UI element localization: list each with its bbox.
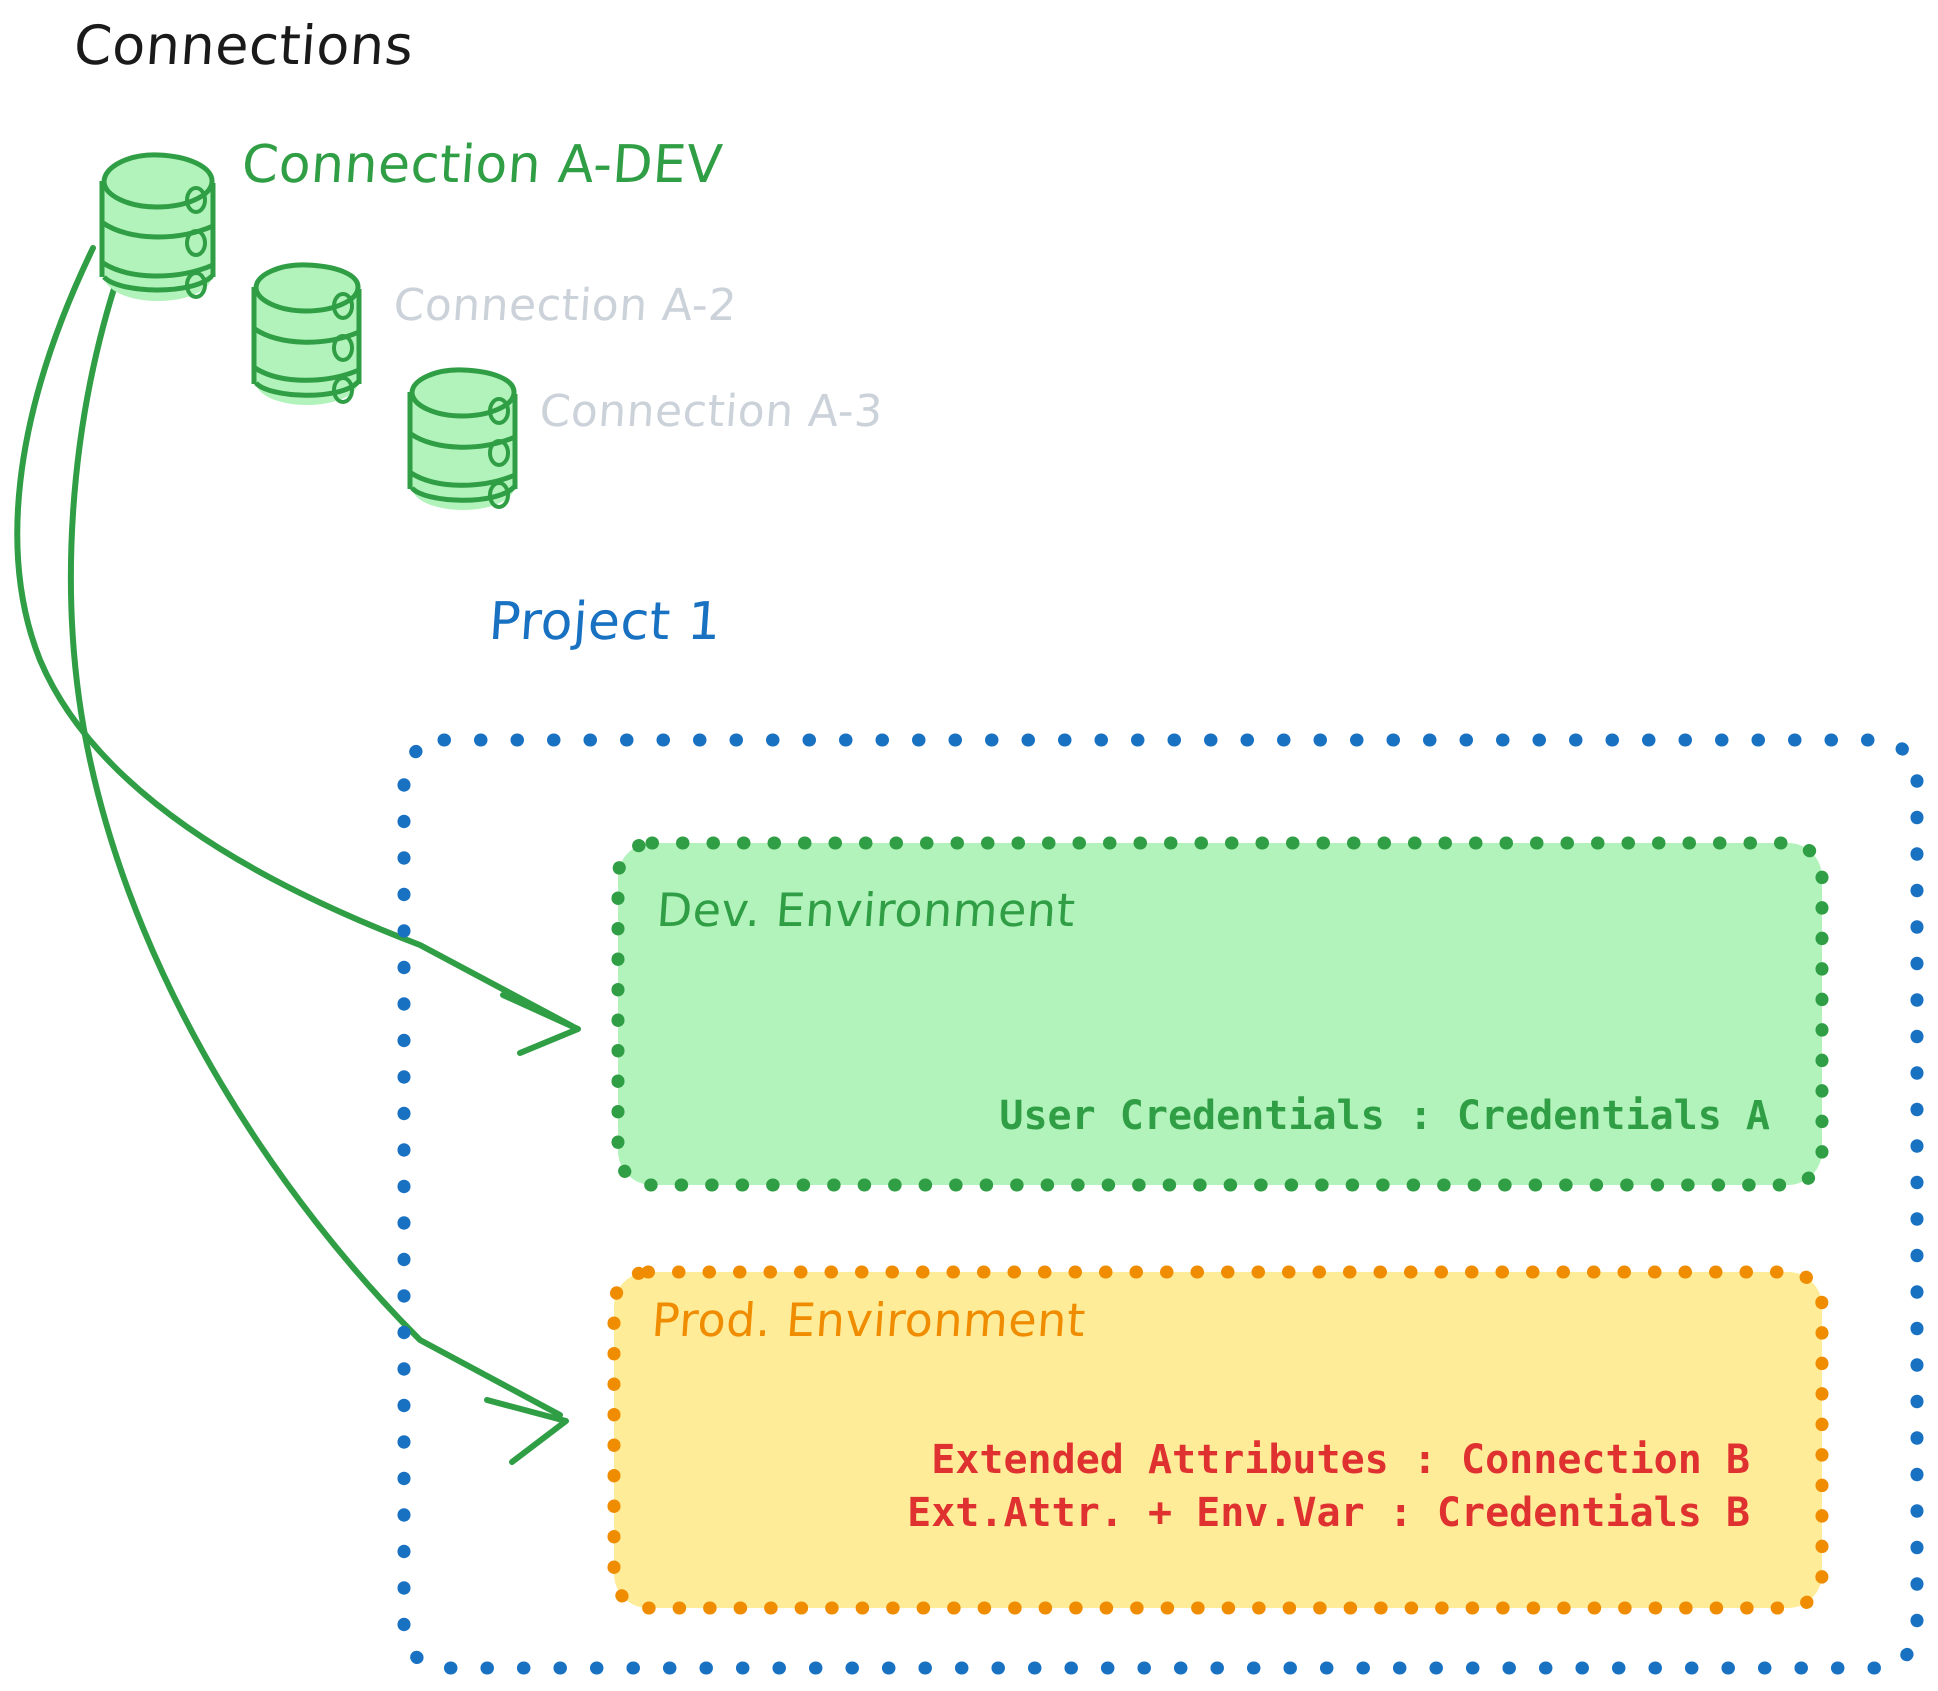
connection-label-a-dev: Connection A-DEV: [240, 135, 725, 195]
project-label: Project 1: [487, 592, 723, 652]
database-icon-a-2[interactable]: [254, 265, 359, 405]
arrow-a-dev-to-prod: [71, 270, 566, 1462]
prod-extended-attributes-row: Extended Attributes : Connection B: [0, 1437, 1750, 1483]
database-icon-a-3[interactable]: [410, 370, 515, 510]
prod-environment-label: Prod. Environment: [650, 1293, 1087, 1347]
database-icon-a-dev[interactable]: [102, 155, 213, 301]
prod-env-var-row: Ext.Attr. + Env.Var : Credentials B: [0, 1490, 1750, 1536]
connector-arrows: [17, 248, 578, 1462]
page-title: Connections: [72, 14, 416, 77]
dev-environment-label: Dev. Environment: [655, 883, 1077, 937]
connection-label-a-3: Connection A-3: [538, 386, 885, 437]
diagram-canvas: Connections Connection A-DEV Connection …: [0, 0, 1938, 1691]
connection-label-a-2: Connection A-2: [392, 280, 739, 331]
dev-credentials-row: User Credentials : Credentials A: [0, 1093, 1770, 1139]
